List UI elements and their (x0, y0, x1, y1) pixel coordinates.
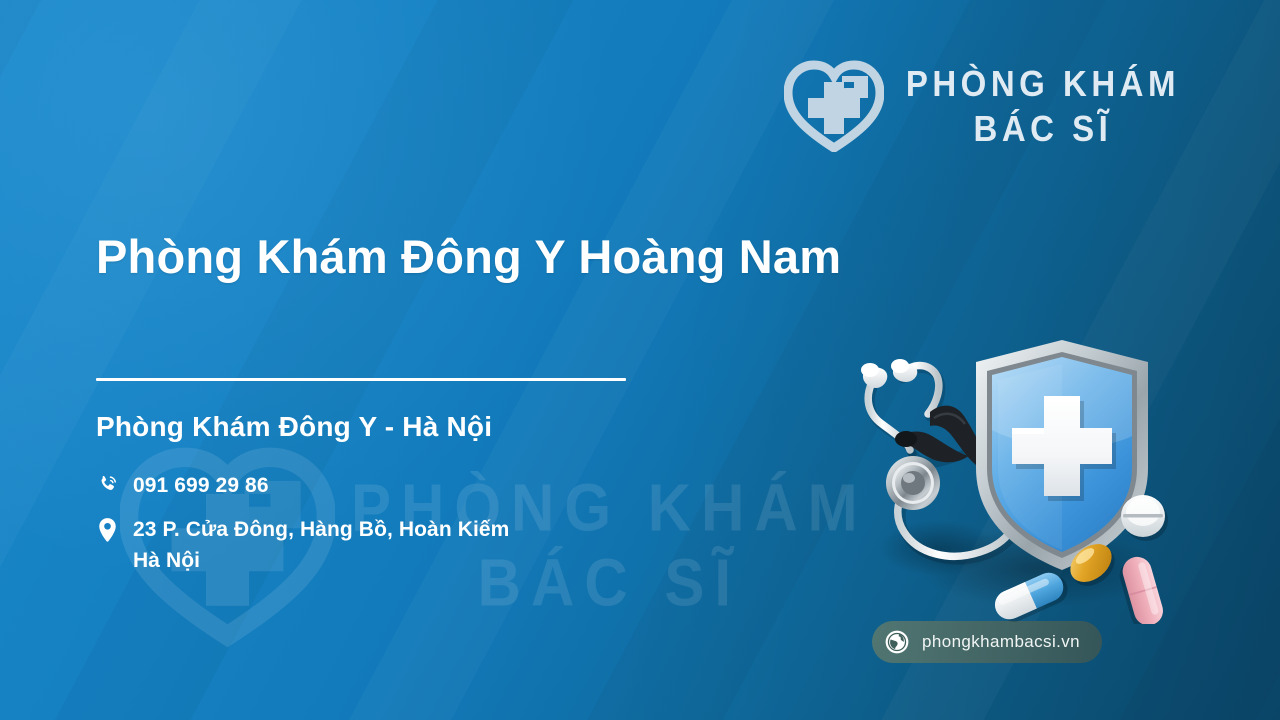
contact-address: 23 P. Cửa Đông, Hàng Bồ, Hoàn Kiếm Hà Nộ… (133, 515, 509, 576)
page-subtitle: Phòng Khám Đông Y - Hà Nội (96, 411, 856, 443)
stethoscope-ear-tips (861, 359, 917, 388)
brand-logo: PHÒNG KHÁM BÁC SĨ (784, 60, 1180, 152)
website-url-text: phongkhambacsi.vn (922, 632, 1080, 652)
medical-shield-stethoscope-pills-illustration (838, 318, 1178, 624)
white-tablet (1121, 495, 1168, 541)
contact-info: 091 699 29 86 23 P. Cửa Đông, Hàng Bồ, H… (96, 471, 856, 576)
stethoscope-chest-piece (886, 456, 940, 510)
contact-address-row[interactable]: 23 P. Cửa Đông, Hàng Bồ, Hoàn Kiếm Hà Nộ… (96, 515, 856, 576)
phone-call-icon (96, 471, 118, 495)
clinic-banner: PHÒNG KHÁM BÁC SĨ PHÒNG KHÁM BÁC SĨ Phòn… (0, 0, 1280, 720)
brand-line-2: BÁC SĨ (906, 106, 1180, 151)
globe-icon (884, 629, 910, 655)
website-url-badge[interactable]: phongkhambacsi.vn (872, 621, 1102, 663)
brand-line-1: PHÒNG KHÁM (906, 61, 1180, 106)
contact-address-line-1: 23 P. Cửa Đông, Hàng Bồ, Hoàn Kiếm (133, 518, 509, 541)
banner-content: Phòng Khám Đông Y Hoàng Nam Phòng Khám Đ… (96, 230, 856, 590)
page-title: Phòng Khám Đông Y Hoàng Nam (96, 230, 856, 284)
title-divider (96, 378, 626, 381)
contact-phone-number: 091 699 29 86 (133, 471, 269, 501)
contact-phone-row[interactable]: 091 699 29 86 (96, 471, 856, 501)
heart-cross-logo-icon (784, 60, 884, 152)
contact-address-line-2: Hà Nội (133, 546, 509, 576)
brand-text: PHÒNG KHÁM BÁC SĨ (906, 61, 1180, 152)
map-pin-icon (96, 515, 118, 542)
